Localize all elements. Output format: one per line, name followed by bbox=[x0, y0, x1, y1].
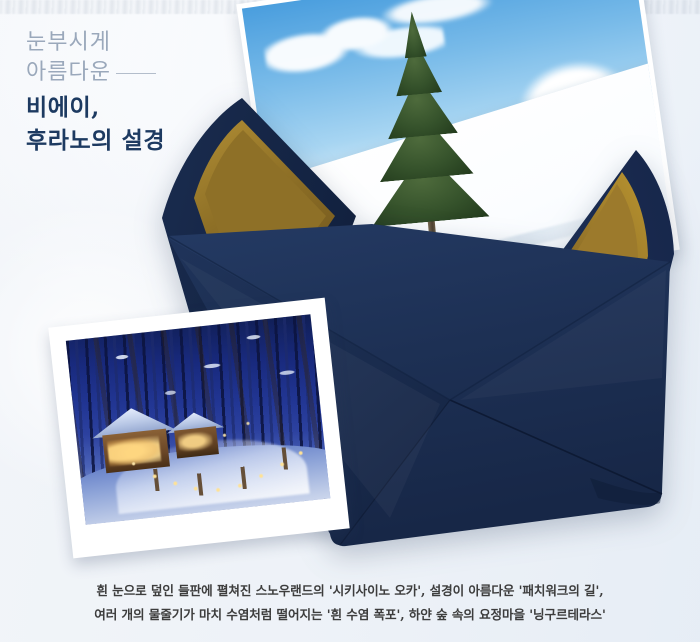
title-line-3: 비에이, bbox=[26, 92, 165, 124]
photo-card-village[interactable] bbox=[48, 298, 349, 559]
caption-block: 흰 눈으로 덮인 들판에 펼쳐진 스노우랜드의 '시키사이노 오카', 설경이 … bbox=[0, 579, 700, 628]
string-lights-icon bbox=[66, 314, 331, 524]
title-line-2: 아름다운 bbox=[26, 58, 111, 88]
title-line-4: 후라노의 설경 bbox=[26, 125, 165, 157]
caption-line-1: 흰 눈으로 덮인 들판에 펼쳐진 스노우랜드의 '시키사이노 오카', 설경이 … bbox=[0, 579, 700, 604]
title-rule-divider bbox=[116, 73, 156, 74]
page-title: 눈부시게 아름다운 비에이, 후라노의 설경 bbox=[26, 28, 165, 157]
title-line-2-row: 아름다운 bbox=[26, 58, 165, 88]
promo-banner: 눈부시게 아름다운 비에이, 후라노의 설경 흰 눈으로 덮인 들판에 펼쳐진 … bbox=[0, 0, 700, 642]
photo-village-image bbox=[66, 314, 331, 524]
title-line-1: 눈부시게 bbox=[26, 28, 165, 58]
caption-line-2: 여러 개의 물줄기가 마치 수염처럼 떨어지는 '흰 수염 폭포', 하얀 숲 … bbox=[0, 603, 700, 628]
